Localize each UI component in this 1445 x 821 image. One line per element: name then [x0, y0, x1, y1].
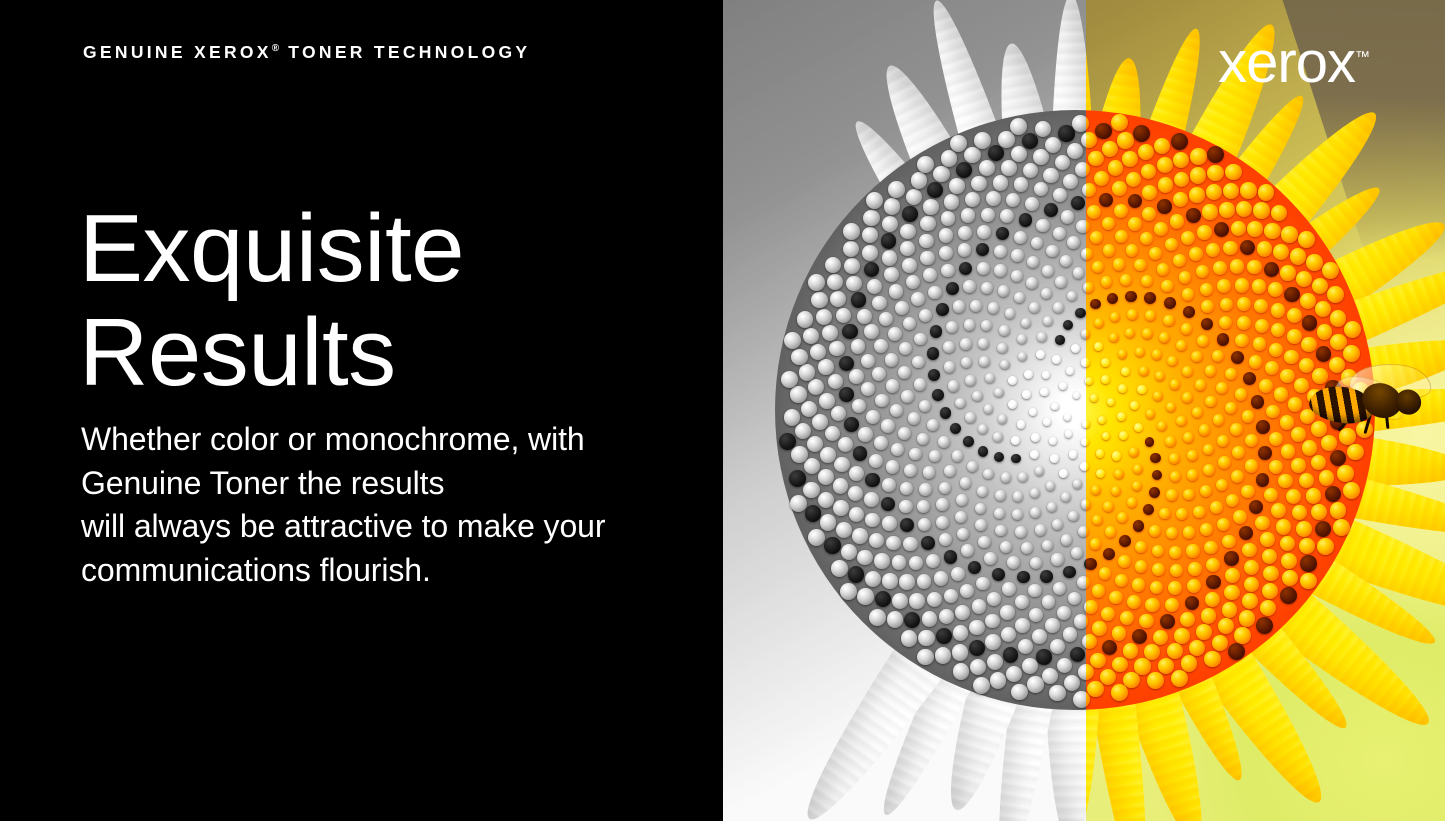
floret: [1114, 469, 1124, 479]
floret: [1036, 649, 1052, 665]
floret: [812, 414, 828, 430]
floret: [891, 443, 904, 456]
floret: [1182, 366, 1193, 377]
floret: [1045, 137, 1061, 153]
floret: [842, 324, 857, 339]
floret: [1022, 658, 1038, 674]
floret: [1170, 214, 1184, 228]
floret: [1026, 277, 1038, 289]
floret: [994, 245, 1007, 258]
floret: [1169, 453, 1180, 464]
xerox-wordmark: xerox: [1218, 30, 1355, 95]
floret: [1212, 635, 1228, 651]
floret: [829, 341, 844, 356]
floret: [1044, 203, 1058, 217]
floret: [1017, 420, 1026, 429]
floret: [953, 663, 970, 680]
floret: [818, 359, 834, 375]
floret: [1123, 643, 1138, 658]
floret: [1157, 199, 1172, 214]
floret: [1159, 508, 1171, 520]
floret: [903, 537, 917, 551]
floret: [874, 436, 888, 450]
floret: [1269, 343, 1283, 357]
floret: [1052, 355, 1061, 364]
floret: [1028, 584, 1041, 597]
floret: [1066, 367, 1074, 375]
floret: [1091, 485, 1101, 495]
floret: [1011, 249, 1024, 262]
floret: [1189, 187, 1204, 202]
floret: [1042, 265, 1054, 277]
floret: [1115, 574, 1128, 587]
floret: [1243, 372, 1256, 385]
floret: [1029, 302, 1040, 313]
floret: [921, 536, 935, 550]
floret: [1164, 297, 1176, 309]
floret: [1125, 291, 1136, 302]
floret: [1210, 501, 1223, 514]
floret: [803, 328, 819, 344]
floret: [1112, 451, 1121, 460]
floret: [923, 199, 939, 215]
floret: [923, 466, 935, 478]
floret: [899, 342, 912, 355]
floret: [993, 175, 1008, 190]
floret: [1163, 315, 1174, 326]
floret: [922, 611, 938, 627]
floret: [1199, 424, 1210, 435]
floret: [941, 150, 958, 167]
floret: [1197, 335, 1209, 347]
eyebrow-heading: GENUINE XEROX® TONER TECHNOLOGY: [83, 44, 530, 62]
floret: [973, 677, 990, 694]
floret: [882, 516, 896, 530]
floret: [1135, 347, 1145, 357]
floret: [1287, 329, 1302, 344]
floret: [919, 483, 932, 496]
floret: [1099, 567, 1112, 580]
floret: [1224, 551, 1238, 565]
floret: [889, 284, 903, 298]
floret: [1142, 185, 1157, 200]
floret: [1171, 133, 1188, 150]
floret: [1015, 595, 1029, 609]
sunflower-photo: [723, 0, 1445, 821]
floret: [888, 181, 905, 198]
floret: [1071, 196, 1085, 210]
floret: [857, 309, 872, 324]
floret: [998, 131, 1015, 148]
floret: [886, 536, 901, 551]
floret: [818, 469, 834, 485]
floret: [1264, 262, 1279, 277]
floret: [1015, 526, 1027, 538]
floret: [1291, 458, 1306, 473]
floret: [1280, 587, 1297, 604]
floret: [1137, 385, 1146, 394]
floret: [1205, 396, 1217, 408]
floret: [1292, 505, 1307, 520]
floret: [1291, 427, 1306, 442]
floret: [881, 233, 897, 249]
floret: [1087, 205, 1101, 219]
floret: [1053, 188, 1067, 202]
floret: [1008, 400, 1017, 409]
floret: [834, 457, 849, 472]
floret: [1101, 358, 1110, 367]
floret: [1067, 143, 1083, 159]
floret: [1255, 319, 1269, 333]
page-title: Exquisite Results: [79, 197, 464, 404]
floret: [1258, 184, 1275, 201]
floret: [1147, 672, 1164, 689]
floret: [1245, 459, 1258, 472]
floret: [1278, 474, 1293, 489]
floret: [1030, 557, 1042, 569]
floret: [1096, 449, 1105, 458]
floret: [1101, 276, 1113, 288]
floret: [1088, 151, 1104, 167]
floret: [958, 243, 972, 257]
floret: [990, 672, 1007, 689]
floret: [1266, 405, 1280, 419]
floret: [981, 208, 995, 222]
floret: [1037, 332, 1047, 342]
floret: [1132, 578, 1145, 591]
floret: [944, 465, 956, 477]
floret: [797, 311, 814, 328]
floret: [927, 419, 939, 431]
floret: [900, 241, 915, 256]
floret: [1109, 591, 1123, 605]
floret: [886, 460, 900, 474]
floret: [869, 454, 883, 468]
floret: [959, 262, 972, 275]
floret: [917, 574, 932, 589]
floret: [902, 258, 917, 273]
floret: [1170, 379, 1181, 390]
floret: [831, 406, 846, 421]
floret: [1109, 333, 1119, 343]
floret: [978, 446, 988, 456]
floret: [1240, 182, 1257, 199]
floret: [1064, 413, 1071, 420]
floret: [1092, 584, 1105, 597]
floret: [938, 436, 950, 448]
floret: [920, 251, 934, 265]
floret: [914, 333, 927, 346]
floret: [932, 389, 944, 401]
floret: [1112, 626, 1127, 641]
floret: [852, 528, 868, 544]
floret: [881, 419, 894, 432]
floret: [839, 387, 854, 402]
floret: [974, 132, 991, 149]
floret: [1187, 450, 1198, 461]
floret: [977, 225, 991, 239]
floret: [1033, 149, 1049, 165]
floret: [1271, 503, 1286, 518]
floret: [884, 198, 900, 214]
floret: [1219, 316, 1232, 329]
floret: [920, 216, 935, 231]
floret: [849, 369, 864, 384]
floret: [1306, 488, 1322, 504]
floret: [1000, 605, 1014, 619]
floret: [1108, 160, 1123, 175]
floret: [1117, 412, 1126, 421]
floret: [944, 194, 959, 209]
floret: [1200, 283, 1213, 296]
floret: [1190, 148, 1207, 165]
floret: [1201, 608, 1216, 623]
floret: [930, 325, 942, 337]
floret: [987, 654, 1003, 670]
floret: [1024, 370, 1033, 379]
floret: [1057, 606, 1071, 620]
floret: [1103, 501, 1113, 511]
floret: [914, 378, 926, 390]
floret: [1045, 618, 1059, 632]
floret: [1095, 123, 1112, 140]
floret: [987, 592, 1001, 606]
floret: [977, 262, 990, 275]
floret: [994, 388, 1004, 398]
floret: [1192, 407, 1203, 418]
floret: [869, 533, 884, 548]
floret: [1132, 481, 1142, 491]
floret: [895, 301, 909, 315]
floret: [960, 338, 971, 349]
floret: [892, 593, 908, 609]
floret: [1018, 639, 1033, 654]
floret: [1165, 436, 1175, 446]
floret: [1126, 244, 1139, 257]
xerox-logo: xerox™: [1218, 34, 1370, 92]
floret: [1241, 485, 1255, 499]
floret: [1259, 379, 1273, 393]
floret: [1225, 164, 1242, 181]
floret: [1150, 453, 1160, 463]
floret: [801, 401, 817, 417]
floret: [948, 380, 959, 391]
floret: [944, 550, 958, 564]
floret: [831, 560, 848, 577]
floret: [909, 593, 924, 608]
floret: [1206, 184, 1222, 200]
floret: [1223, 183, 1239, 199]
floret: [1167, 643, 1183, 659]
floret: [784, 409, 801, 426]
floret: [882, 250, 897, 265]
floret: [1126, 172, 1141, 187]
floret: [985, 634, 1000, 649]
floret: [839, 356, 854, 371]
floret: [808, 274, 825, 291]
floret: [1128, 217, 1142, 231]
floret: [1247, 260, 1262, 275]
floret: [908, 412, 921, 425]
floret: [857, 588, 874, 605]
floret: [1300, 555, 1317, 572]
floret: [1143, 504, 1154, 515]
floret: [1196, 624, 1212, 640]
floret: [1001, 627, 1016, 642]
floret: [912, 356, 925, 369]
floret: [833, 500, 849, 516]
floret: [1322, 262, 1339, 279]
floret: [1206, 575, 1221, 590]
floret: [1000, 541, 1012, 553]
floret: [1235, 388, 1248, 401]
floret: [934, 571, 948, 585]
floret: [1251, 395, 1264, 408]
floret: [1239, 610, 1255, 626]
floret: [911, 172, 928, 189]
floret: [1053, 582, 1066, 595]
floret: [807, 436, 823, 452]
floret: [953, 625, 969, 641]
floret: [1099, 193, 1113, 207]
floret: [1107, 293, 1118, 304]
floret: [899, 500, 913, 514]
floret: [1092, 621, 1107, 636]
floret: [1228, 643, 1245, 660]
floret: [1043, 168, 1058, 183]
floret: [781, 371, 798, 388]
floret: [810, 344, 826, 360]
floret: [1084, 558, 1096, 570]
floret: [1219, 202, 1235, 218]
floret: [1157, 263, 1170, 276]
floret: [1111, 486, 1121, 496]
floret: [1280, 265, 1296, 281]
floret: [1218, 456, 1230, 468]
floret: [791, 446, 808, 463]
floret: [862, 245, 878, 261]
floret: [1043, 418, 1051, 426]
floret: [887, 611, 903, 627]
floret: [1299, 538, 1315, 554]
floret: [1003, 647, 1019, 663]
floret: [1011, 146, 1027, 162]
floret: [1157, 157, 1173, 173]
floret: [1212, 350, 1224, 362]
floret: [1344, 321, 1361, 338]
floret: [950, 135, 967, 152]
floret: [1225, 402, 1237, 414]
floret: [1276, 519, 1291, 534]
floret: [1237, 316, 1251, 330]
floret: [1306, 254, 1323, 271]
floret: [1224, 585, 1239, 600]
floret: [1205, 592, 1220, 607]
floret: [866, 410, 880, 424]
floret: [1035, 466, 1044, 475]
floret: [1132, 629, 1147, 644]
floret: [843, 223, 860, 240]
floret: [901, 390, 914, 403]
floret: [899, 574, 914, 589]
floret: [939, 246, 953, 260]
floret: [840, 583, 857, 600]
floret: [882, 216, 898, 232]
floret: [917, 156, 934, 173]
floret: [941, 264, 954, 277]
floret: [874, 339, 888, 353]
floret: [1300, 573, 1317, 590]
floret: [1280, 369, 1294, 383]
floret: [879, 312, 893, 326]
floret: [961, 208, 976, 223]
floret: [963, 436, 974, 447]
floret: [1247, 221, 1263, 237]
floret: [1087, 681, 1104, 698]
floret: [1240, 240, 1255, 255]
floret: [1181, 231, 1195, 245]
floret: [1010, 118, 1027, 135]
floret: [1235, 334, 1248, 347]
floret: [1299, 473, 1314, 488]
floret: [927, 592, 942, 607]
floret: [1258, 446, 1272, 460]
floret: [1014, 231, 1027, 244]
floret: [1330, 450, 1346, 466]
floret: [898, 427, 911, 440]
floret: [836, 522, 852, 538]
floret: [997, 343, 1007, 353]
floret: [1040, 388, 1048, 396]
floret: [1201, 318, 1213, 330]
floret: [939, 228, 953, 242]
floret: [1134, 658, 1150, 674]
floret: [1169, 546, 1182, 559]
floret: [1222, 602, 1238, 618]
floret: [1130, 401, 1139, 410]
floret: [1181, 323, 1193, 335]
floret: [963, 280, 976, 293]
floret: [1183, 306, 1195, 318]
floret: [970, 300, 982, 312]
floret: [1046, 481, 1056, 491]
marketing-slide: GENUINE XEROX® TONER TECHNOLOGY Exquisit…: [0, 0, 1445, 821]
floret: [960, 477, 972, 489]
floret: [1092, 261, 1104, 273]
floret: [866, 192, 883, 209]
floret: [1296, 521, 1312, 537]
trademark-symbol: ™: [1355, 49, 1370, 66]
floret: [1029, 608, 1043, 622]
floret: [1204, 541, 1218, 555]
floret: [1030, 450, 1039, 459]
floret: [1055, 335, 1064, 344]
floret: [1112, 657, 1128, 673]
floret: [1138, 144, 1154, 160]
floret: [968, 561, 981, 574]
floret: [1225, 368, 1237, 380]
floret: [1330, 502, 1347, 519]
floret: [1235, 278, 1249, 292]
floret: [1133, 464, 1143, 474]
floret: [811, 292, 828, 309]
floret: [955, 398, 966, 409]
floret: [1260, 532, 1275, 547]
floret: [902, 206, 918, 222]
floret: [965, 375, 976, 386]
floret: [1274, 387, 1288, 401]
floret: [1244, 560, 1259, 575]
